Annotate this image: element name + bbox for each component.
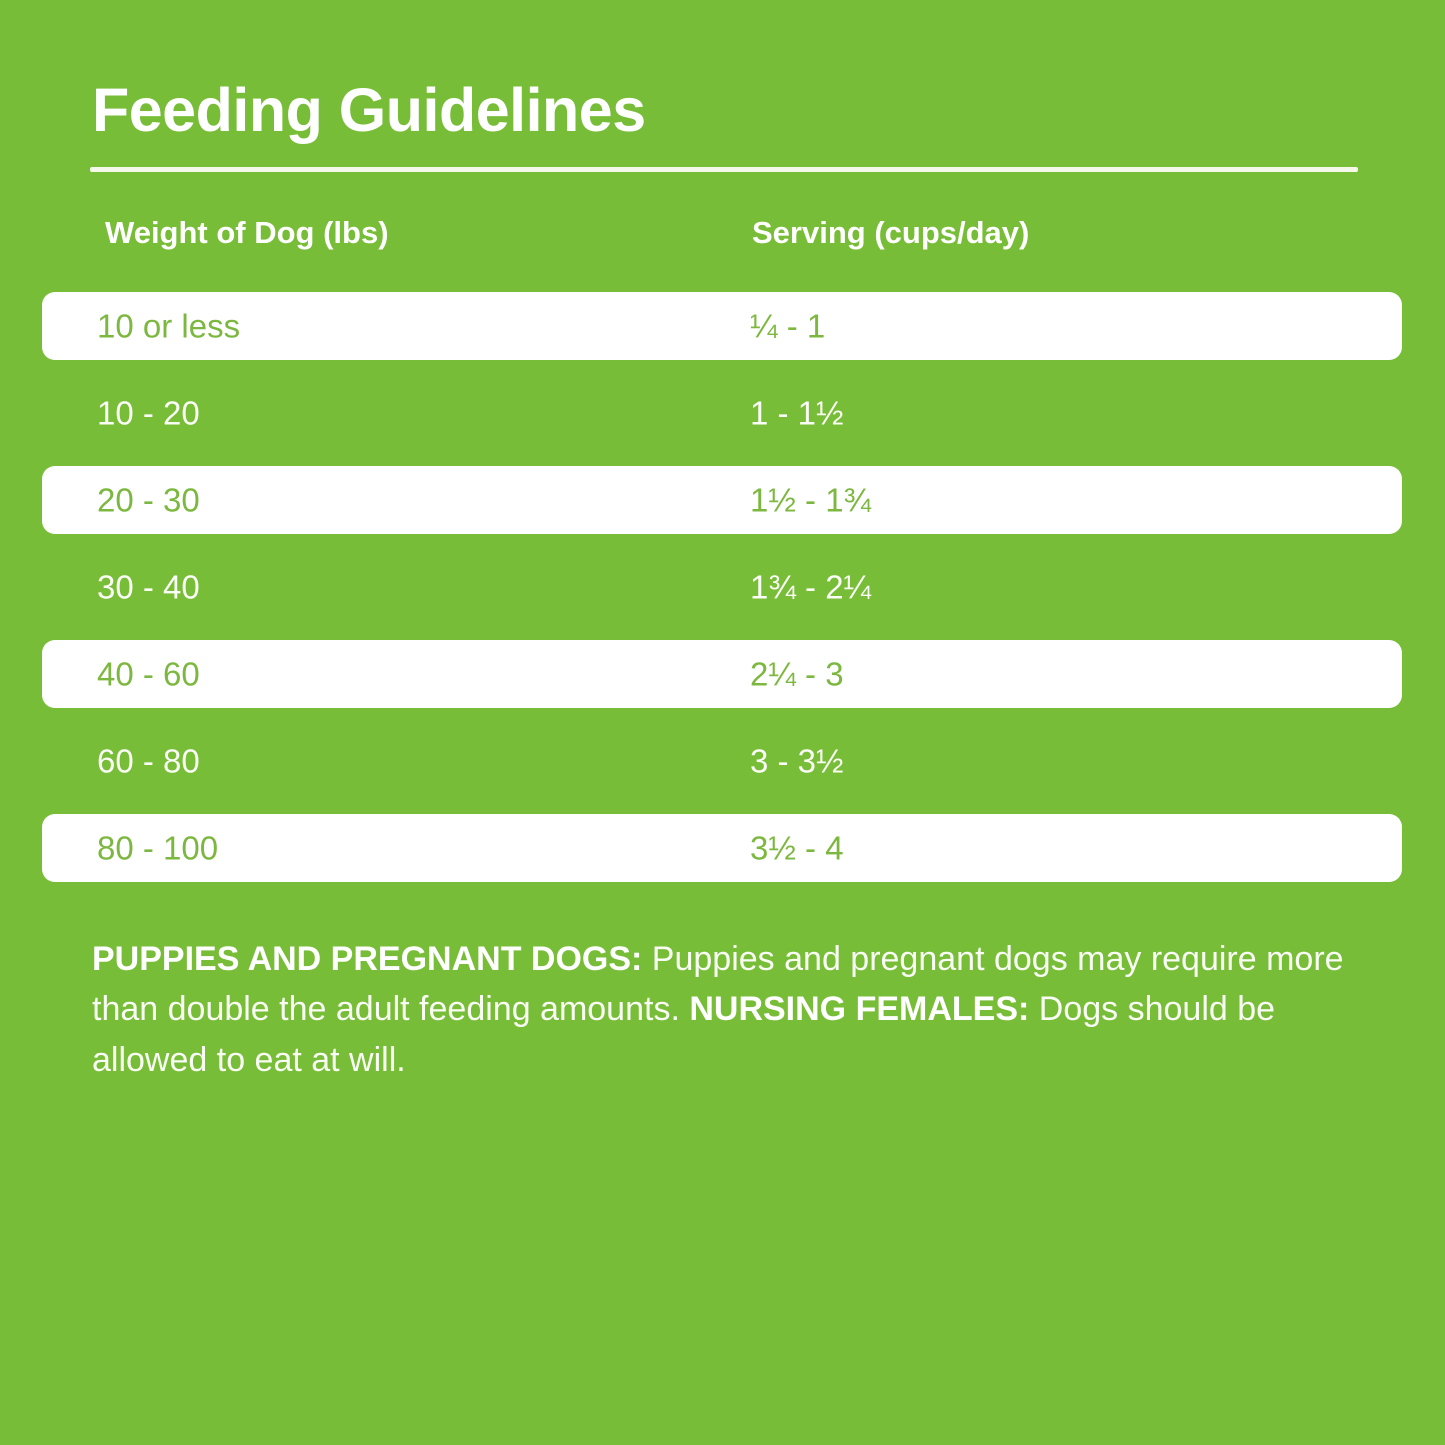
footnote-label-puppies: PUPPIES AND PREGNANT DOGS:: [92, 940, 642, 978]
table-row: 30 - 40 1¾ - 2¼: [0, 553, 1445, 621]
cell-serving: 1¾ - 2¼: [750, 571, 871, 604]
table-row: 10 or less ¼ - 1: [0, 292, 1445, 360]
cell-weight: 40 - 60: [97, 658, 200, 691]
title-divider: [90, 167, 1358, 172]
table-row: 40 - 60 2¼ - 3: [0, 640, 1445, 708]
feeding-table: 10 or less ¼ - 1 10 - 20 1 - 1½ 20 - 30 …: [0, 292, 1445, 901]
cell-serving: 3½ - 4: [750, 832, 844, 865]
footnote-label-nursing: NURSING FEMALES:: [689, 990, 1029, 1028]
feeding-guidelines-panel: Feeding Guidelines Weight of Dog (lbs) S…: [0, 0, 1445, 1445]
table-row: 60 - 80 3 - 3½: [0, 727, 1445, 795]
table-row: 80 - 100 3½ - 4: [0, 814, 1445, 882]
row-background: [42, 292, 1402, 360]
column-header-weight: Weight of Dog (lbs): [105, 215, 389, 251]
row-background: [42, 814, 1402, 882]
row-background: [42, 553, 1402, 621]
feeding-footnote: PUPPIES AND PREGNANT DOGS: Puppies and p…: [92, 934, 1368, 1085]
cell-weight: 20 - 30: [97, 484, 200, 517]
cell-serving: 3 - 3½: [750, 745, 844, 778]
cell-weight: 10 - 20: [97, 397, 200, 430]
cell-serving: ¼ - 1: [750, 310, 825, 343]
table-row: 10 - 20 1 - 1½: [0, 379, 1445, 447]
row-background: [42, 640, 1402, 708]
row-background: [42, 379, 1402, 447]
table-row: 20 - 30 1½ - 1¾: [0, 466, 1445, 534]
cell-weight: 80 - 100: [97, 832, 218, 865]
cell-weight: 60 - 80: [97, 745, 200, 778]
row-background: [42, 466, 1402, 534]
cell-weight: 30 - 40: [97, 571, 200, 604]
cell-serving: 1½ - 1¾: [750, 484, 871, 517]
page-title: Feeding Guidelines: [92, 78, 646, 142]
column-header-serving: Serving (cups/day): [752, 215, 1029, 251]
cell-weight: 10 or less: [97, 310, 240, 343]
cell-serving: 2¼ - 3: [750, 658, 844, 691]
row-background: [42, 727, 1402, 795]
cell-serving: 1 - 1½: [750, 397, 844, 430]
table-column-headers: Weight of Dog (lbs) Serving (cups/day): [0, 215, 1445, 263]
